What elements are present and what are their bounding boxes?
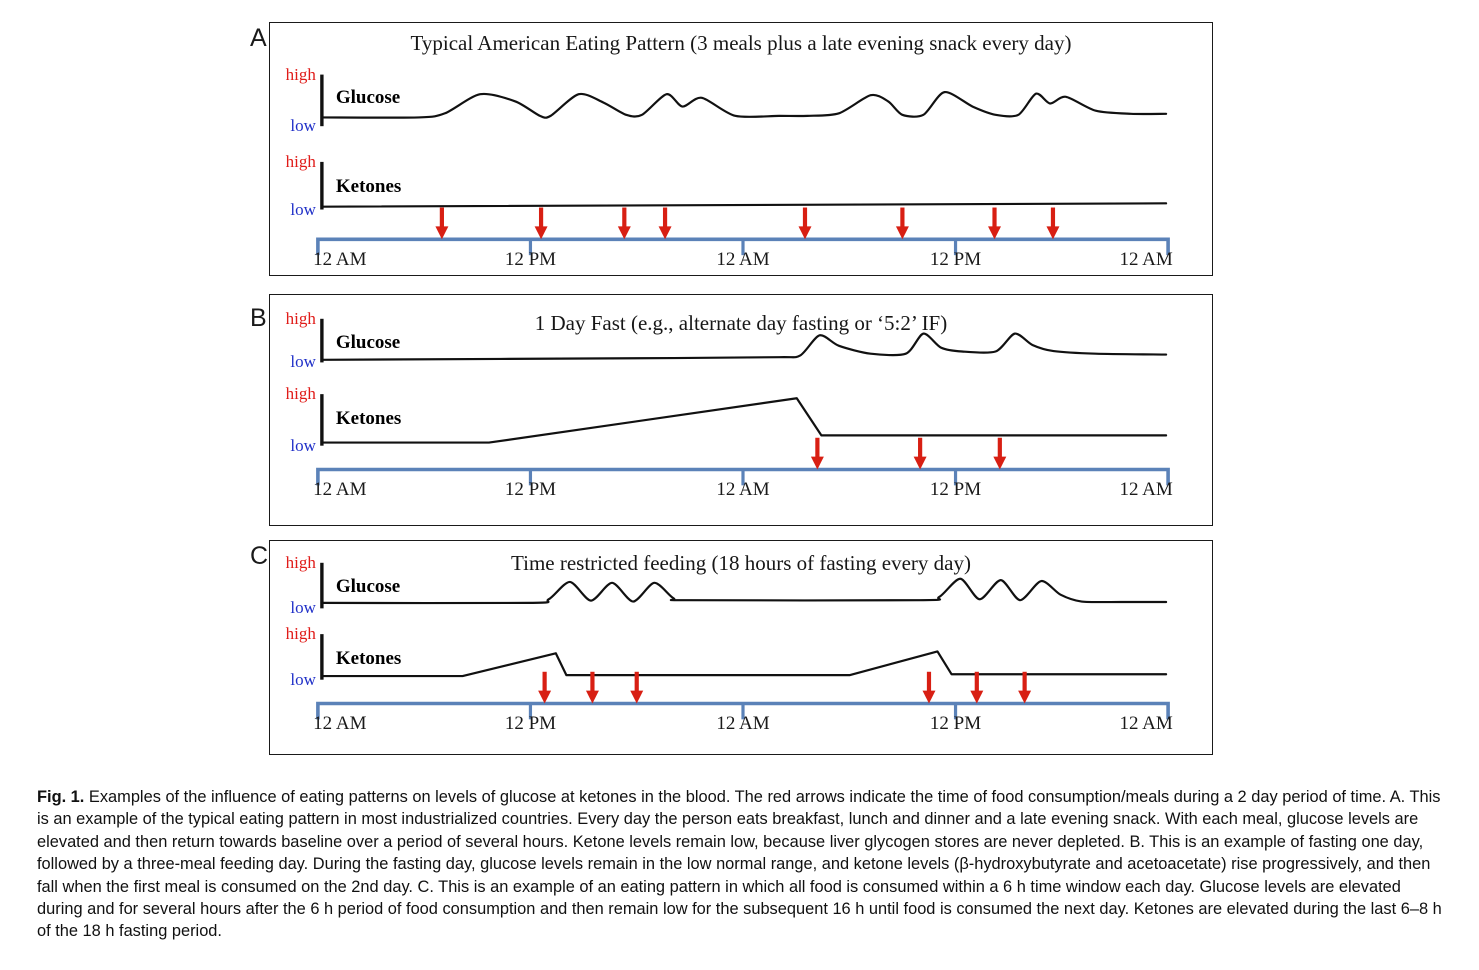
glucose-series-label: Glucose [336,87,400,109]
glucose-high-label: high [286,310,316,327]
ketones-high-label: high [286,153,316,170]
timeline-label-2: 12 AM [716,713,769,735]
panel-a: Typical American Eating Pattern (3 meals… [269,22,1213,276]
glucose-trace [322,579,1166,603]
meal-arrow [993,438,1006,470]
ketones-trace [322,203,1166,206]
timeline-label-4: 12 AM [1119,713,1172,735]
timeline-label-2: 12 AM [716,249,769,271]
meal-arrow [970,672,983,704]
glucose-series-label: Glucose [336,332,400,354]
meal-arrow [988,208,1001,240]
panel-letter-a: A [250,26,267,51]
glucose-series-label: Glucose [336,576,400,598]
meal-arrow [896,208,909,240]
panel-letter-c: C [250,544,268,569]
ketones-series-label: Ketones [336,408,401,430]
glucose-low-label: low [290,353,316,370]
panel-a-plot [270,23,1212,275]
timeline-label-3: 12 PM [930,713,981,735]
figure-caption-text: Examples of the influence of eating patt… [37,788,1442,940]
meal-arrow [799,208,812,240]
timeline-label-0: 12 AM [313,479,366,501]
meal-arrow [659,208,672,240]
meal-arrow [535,208,548,240]
timeline-label-1: 12 PM [505,479,556,501]
ketones-series-label: Ketones [336,176,401,198]
timeline-label-3: 12 PM [930,249,981,271]
timeline-label-1: 12 PM [505,713,556,735]
glucose-trace [322,92,1166,118]
meal-arrow [630,672,643,704]
meal-arrow [618,208,631,240]
figure-label: Fig. 1. [37,788,84,806]
meal-arrow [922,672,935,704]
ketones-low-label: low [290,437,316,454]
panel-b: 1 Day Fast (e.g., alternate day fasting … [269,294,1213,526]
timeline-label-4: 12 AM [1119,249,1172,271]
timeline-label-2: 12 AM [716,479,769,501]
panel-letter-b: B [250,306,267,331]
ketones-high-label: high [286,625,316,642]
timeline-label-0: 12 AM [313,713,366,735]
glucose-low-label: low [290,599,316,616]
ketones-low-label: low [290,201,316,218]
figure-root: A B C Typical American Eating Pattern (3… [0,0,1479,970]
meal-arrow [435,208,448,240]
meal-arrow [586,672,599,704]
panel-c: Time restricted feeding (18 hours of fas… [269,540,1213,755]
ketones-series-label: Ketones [336,648,401,670]
meal-arrow [914,438,927,470]
timeline-label-0: 12 AM [313,249,366,271]
timeline-label-4: 12 AM [1119,479,1172,501]
ketones-trace [322,651,1166,676]
timeline-label-1: 12 PM [505,249,556,271]
timeline-label-3: 12 PM [930,479,981,501]
glucose-high-label: high [286,554,316,571]
ketones-trace [322,398,1166,442]
ketones-low-label: low [290,671,316,688]
panel-stack: A B C Typical American Eating Pattern (3… [0,0,1479,775]
glucose-trace [322,334,1166,360]
meal-arrow [538,672,551,704]
glucose-high-label: high [286,66,316,83]
meal-arrow [1018,672,1031,704]
meal-arrow [1046,208,1059,240]
figure-caption: Fig. 1. Examples of the influence of eat… [37,786,1445,943]
glucose-low-label: low [290,117,316,134]
meal-arrow [811,438,824,470]
ketones-high-label: high [286,385,316,402]
